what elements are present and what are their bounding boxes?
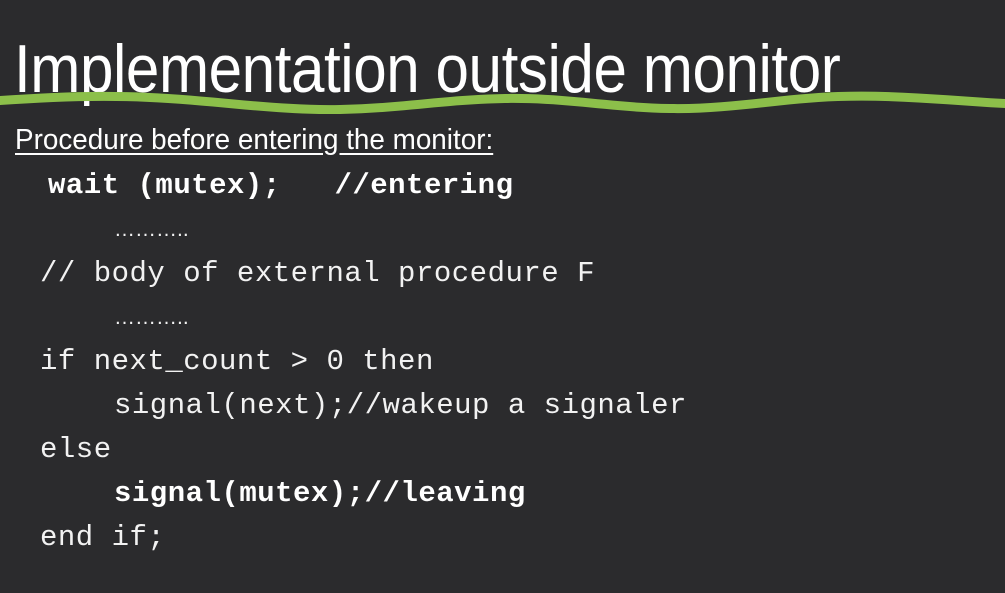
- code-line: ………..: [0, 208, 1005, 252]
- code-line: end if;: [0, 516, 1005, 560]
- code-line: wait (mutex); //entering: [0, 164, 1005, 208]
- code-line: // body of external procedure F: [0, 252, 1005, 296]
- code-line: else: [0, 428, 1005, 472]
- slide-root: Implementation outside monitor Procedure…: [0, 0, 1005, 593]
- code-line: if next_count > 0 then: [0, 340, 1005, 384]
- wavy-divider-decoration: [0, 84, 1005, 114]
- subhead-procedure-label: Procedure before entering the monitor:: [15, 122, 493, 158]
- code-line: signal(next);//wakeup a signaler: [0, 384, 1005, 428]
- code-line: signal(mutex);//leaving: [0, 472, 1005, 516]
- code-block: wait (mutex); //entering ……….. // body o…: [0, 164, 1005, 560]
- code-line: ………..: [0, 296, 1005, 340]
